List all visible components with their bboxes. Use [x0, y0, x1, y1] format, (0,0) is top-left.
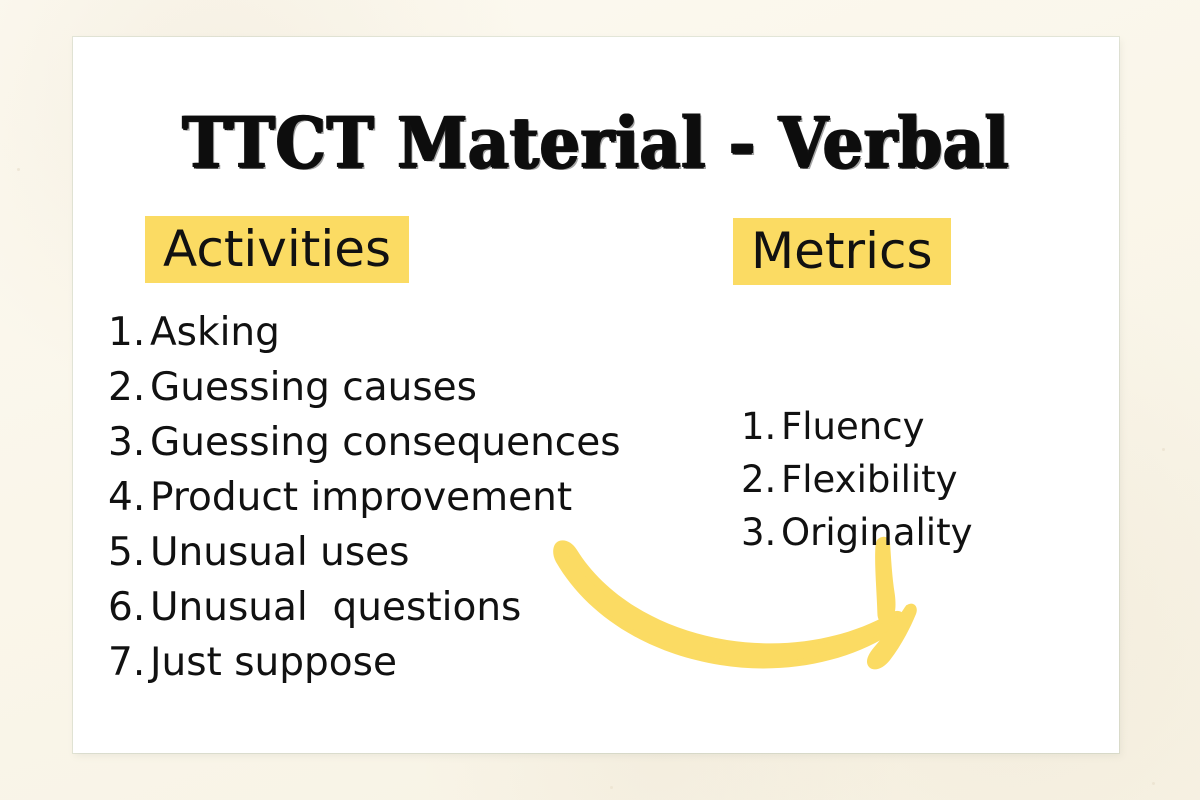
- list-item-number: 7.: [108, 635, 150, 690]
- column-header-metrics: Metrics: [733, 218, 951, 285]
- list-item-number: 2.: [108, 360, 150, 415]
- paper-fleck: [1152, 782, 1155, 785]
- list-item-label: Unusual uses: [150, 525, 410, 580]
- list-item: 6. Unusual questions: [108, 580, 621, 635]
- list-item: 7. Just suppose: [108, 635, 621, 690]
- slide-canvas: TTCT Material - Verbal Activities 1. Ask…: [0, 0, 1200, 800]
- list-item-label: Guessing consequences: [150, 415, 621, 470]
- list-item: 1. Fluency: [741, 400, 972, 453]
- slide-card: TTCT Material - Verbal Activities 1. Ask…: [73, 37, 1119, 753]
- list-item-number: 1.: [741, 400, 781, 453]
- list-item-number: 3.: [741, 506, 781, 559]
- list-item: 3. Originality: [741, 506, 972, 559]
- list-item-label: Fluency: [781, 400, 924, 453]
- list-item: 1. Asking: [108, 305, 621, 360]
- metrics-list: 1. Fluency 2. Flexibility 3. Originality: [741, 400, 972, 559]
- list-item-label: Unusual questions: [150, 580, 521, 635]
- activities-list: 1. Asking 2. Guessing causes 3. Guessing…: [108, 305, 621, 690]
- paper-fleck: [1162, 448, 1165, 451]
- list-item-label: Flexibility: [781, 453, 958, 506]
- list-item: 4. Product improvement: [108, 470, 621, 525]
- paper-fleck: [610, 786, 613, 789]
- list-item-number: 3.: [108, 415, 150, 470]
- paper-fleck: [17, 168, 20, 171]
- list-item: 3. Guessing consequences: [108, 415, 621, 470]
- list-item-number: 2.: [741, 453, 781, 506]
- list-item-label: Originality: [781, 506, 972, 559]
- list-item: 2. Guessing causes: [108, 360, 621, 415]
- list-item-number: 1.: [108, 305, 150, 360]
- column-header-activities: Activities: [145, 216, 409, 283]
- arrowhead-barb-lower: [867, 604, 917, 670]
- list-item-number: 5.: [108, 525, 150, 580]
- list-item-label: Guessing causes: [150, 360, 477, 415]
- list-item: 5. Unusual uses: [108, 525, 621, 580]
- list-item: 2. Flexibility: [741, 453, 972, 506]
- list-item-label: Just suppose: [150, 635, 397, 690]
- list-item-label: Product improvement: [150, 470, 572, 525]
- list-item-number: 6.: [108, 580, 150, 635]
- page-title: TTCT Material - Verbal: [125, 108, 1066, 178]
- list-item-label: Asking: [150, 305, 280, 360]
- list-item-number: 4.: [108, 470, 150, 525]
